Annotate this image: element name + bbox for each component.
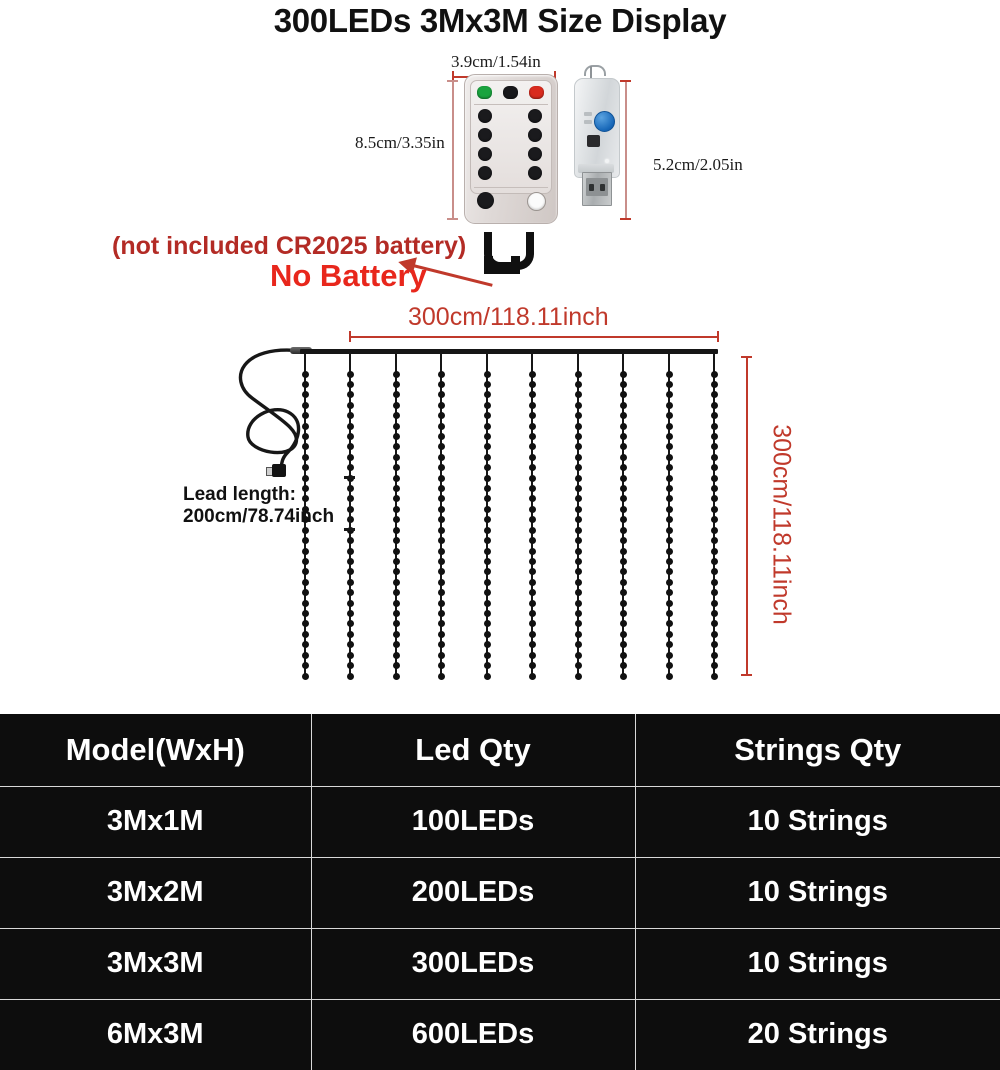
led-bulb xyxy=(666,641,673,648)
led-bulb xyxy=(711,600,718,607)
spec-table: Model(WxH) Led Qty Strings Qty 3Mx1M100L… xyxy=(0,714,1000,1070)
led-bulb xyxy=(711,631,718,638)
led-bulb xyxy=(620,423,627,430)
led-bulb xyxy=(347,443,354,450)
spec-table-row: 3Mx1M100LEDs10 Strings xyxy=(0,786,1000,857)
led-bulb xyxy=(575,579,582,586)
led-bulb xyxy=(438,506,445,513)
led-bulb xyxy=(302,475,309,482)
led-bulb xyxy=(529,454,536,461)
led-bulb xyxy=(575,381,582,388)
led-bulb xyxy=(484,516,491,523)
led-bulb xyxy=(484,454,491,461)
spec-cell-led-qty: 300LEDs xyxy=(311,928,635,999)
led-bulb xyxy=(393,652,400,659)
led-bulb xyxy=(711,589,718,596)
led-bulb xyxy=(393,673,400,680)
led-bulb xyxy=(393,548,400,555)
led-bulb xyxy=(529,495,536,502)
spec-cell-strings: 10 Strings xyxy=(635,928,1000,999)
led-bulb xyxy=(302,600,309,607)
led-bulb xyxy=(484,579,491,586)
led-bulb xyxy=(302,568,309,575)
led-bulb xyxy=(666,454,673,461)
led-bulb xyxy=(575,527,582,534)
led-bulb xyxy=(711,516,718,523)
led-bulb xyxy=(484,537,491,544)
led-bulb xyxy=(347,381,354,388)
led-bulb xyxy=(529,662,536,669)
led-bulb xyxy=(666,495,673,502)
led-bulb xyxy=(438,423,445,430)
led-bulb xyxy=(620,391,627,398)
lead-length-cap-top xyxy=(344,476,355,479)
led-bulb xyxy=(529,402,536,409)
led-bulb xyxy=(620,381,627,388)
led-bulb xyxy=(302,589,309,596)
led-bulb xyxy=(529,548,536,555)
led-bulb xyxy=(347,548,354,555)
led-bulb xyxy=(666,391,673,398)
led-bulb xyxy=(575,568,582,575)
led-bulb xyxy=(393,464,400,471)
led-bulb xyxy=(484,620,491,627)
led-bulb xyxy=(438,600,445,607)
led-bulb xyxy=(620,485,627,492)
led-bulb xyxy=(666,485,673,492)
led-bulb xyxy=(347,620,354,627)
led-string xyxy=(531,352,533,676)
led-bulb xyxy=(438,558,445,565)
led-bulb xyxy=(438,579,445,586)
led-bulb xyxy=(393,537,400,544)
led-bulb xyxy=(529,641,536,648)
led-bulb xyxy=(393,485,400,492)
led-bulb xyxy=(620,558,627,565)
led-bulb xyxy=(711,412,718,419)
led-bulb xyxy=(347,568,354,575)
led-bulb xyxy=(302,673,309,680)
led-bulb xyxy=(529,443,536,450)
led-bulb xyxy=(393,454,400,461)
led-bulb xyxy=(302,641,309,648)
led-bulb xyxy=(711,464,718,471)
led-string xyxy=(395,352,397,676)
led-bulb xyxy=(393,662,400,669)
led-bulb xyxy=(620,631,627,638)
lead-length-label: Lead length: 200cm/78.74inch xyxy=(183,484,334,529)
led-bulb xyxy=(711,652,718,659)
led-bulb xyxy=(347,631,354,638)
led-bulb xyxy=(438,433,445,440)
led-bulb xyxy=(575,610,582,617)
led-bulb xyxy=(711,423,718,430)
lead-length-line-2: 200cm/78.74inch xyxy=(183,506,334,527)
led-bulb xyxy=(666,371,673,378)
led-bulb xyxy=(620,537,627,544)
led-bulb xyxy=(575,485,582,492)
led-bulb xyxy=(393,579,400,586)
led-bulb xyxy=(393,527,400,534)
led-bulb xyxy=(484,423,491,430)
spec-cell-strings: 10 Strings xyxy=(635,786,1000,857)
led-bulb xyxy=(347,641,354,648)
led-bulb xyxy=(620,610,627,617)
led-bulb xyxy=(438,495,445,502)
led-bulb xyxy=(666,412,673,419)
led-bulb xyxy=(620,527,627,534)
led-string xyxy=(486,352,488,676)
led-bulb xyxy=(666,673,673,680)
led-bulb xyxy=(302,558,309,565)
led-bulb xyxy=(711,537,718,544)
led-bulb xyxy=(711,662,718,669)
led-bulb xyxy=(575,454,582,461)
led-bulb xyxy=(347,371,354,378)
led-bulb xyxy=(575,506,582,513)
led-bulb xyxy=(620,579,627,586)
led-bulb xyxy=(666,464,673,471)
led-bulb xyxy=(302,662,309,669)
led-bulb xyxy=(711,620,718,627)
led-bulb xyxy=(620,371,627,378)
led-bulb xyxy=(666,475,673,482)
led-bulb xyxy=(393,641,400,648)
led-bulb xyxy=(575,558,582,565)
led-bulb xyxy=(666,600,673,607)
led-bulb xyxy=(438,391,445,398)
spec-cell-led-qty: 100LEDs xyxy=(311,786,635,857)
led-bulb xyxy=(393,506,400,513)
led-bulb xyxy=(438,641,445,648)
lead-length-line-1: Lead length: xyxy=(183,484,296,505)
led-bulb xyxy=(575,673,582,680)
led-bulb xyxy=(575,589,582,596)
spec-cell-strings: 20 Strings xyxy=(635,999,1000,1070)
led-bulb xyxy=(711,527,718,534)
led-bulb xyxy=(575,600,582,607)
led-bulb xyxy=(484,433,491,440)
led-bulb xyxy=(575,516,582,523)
led-bulb xyxy=(575,412,582,419)
led-bulb xyxy=(302,631,309,638)
spec-cell-strings: 10 Strings xyxy=(635,857,1000,928)
led-bulb xyxy=(347,402,354,409)
led-bulb xyxy=(393,423,400,430)
led-bulb xyxy=(347,433,354,440)
led-bulb xyxy=(529,600,536,607)
curtain-top-wire xyxy=(300,349,718,354)
led-bulb xyxy=(711,506,718,513)
led-bulb xyxy=(302,652,309,659)
led-bulb xyxy=(575,371,582,378)
led-bulb xyxy=(529,412,536,419)
led-bulb xyxy=(620,454,627,461)
led-bulb xyxy=(711,443,718,450)
led-bulb xyxy=(393,558,400,565)
led-bulb xyxy=(620,516,627,523)
led-bulb xyxy=(484,443,491,450)
led-bulb xyxy=(620,433,627,440)
lead-usb-plug xyxy=(272,464,286,477)
led-bulb xyxy=(393,516,400,523)
led-bulb xyxy=(393,381,400,388)
led-bulb xyxy=(438,652,445,659)
led-bulb xyxy=(575,495,582,502)
led-bulb xyxy=(620,600,627,607)
led-bulb xyxy=(666,433,673,440)
led-bulb xyxy=(666,620,673,627)
led-bulb xyxy=(529,568,536,575)
led-bulb xyxy=(529,423,536,430)
led-bulb xyxy=(438,475,445,482)
led-bulb xyxy=(438,673,445,680)
led-bulb xyxy=(620,443,627,450)
led-bulb xyxy=(438,620,445,627)
led-bulb xyxy=(575,443,582,450)
led-bulb xyxy=(620,506,627,513)
led-bulb xyxy=(666,652,673,659)
led-bulb xyxy=(438,631,445,638)
led-bulb xyxy=(302,620,309,627)
led-bulb xyxy=(302,412,309,419)
led-bulb xyxy=(393,443,400,450)
led-bulb xyxy=(711,610,718,617)
spec-header-led-qty: Led Qty xyxy=(311,714,635,786)
led-bulb xyxy=(666,589,673,596)
led-bulb xyxy=(438,371,445,378)
spec-header-strings: Strings Qty xyxy=(635,714,1000,786)
led-bulb xyxy=(575,402,582,409)
led-bulb xyxy=(347,652,354,659)
led-bulb xyxy=(438,381,445,388)
led-bulb xyxy=(711,391,718,398)
led-bulb xyxy=(529,652,536,659)
led-bulb xyxy=(393,475,400,482)
led-bulb xyxy=(347,579,354,586)
led-bulb xyxy=(484,558,491,565)
led-bulb xyxy=(438,464,445,471)
led-bulb xyxy=(347,423,354,430)
led-bulb xyxy=(302,454,309,461)
led-bulb xyxy=(393,433,400,440)
led-bulb xyxy=(666,402,673,409)
led-bulb xyxy=(393,412,400,419)
led-bulb xyxy=(666,506,673,513)
led-bulb xyxy=(302,537,309,544)
led-bulb xyxy=(666,381,673,388)
led-bulb xyxy=(575,641,582,648)
led-bulb xyxy=(438,662,445,669)
led-bulb xyxy=(484,631,491,638)
led-bulb xyxy=(666,516,673,523)
led-bulb xyxy=(575,423,582,430)
led-bulb xyxy=(575,662,582,669)
led-bulb xyxy=(302,464,309,471)
spec-table-row: 3Mx2M200LEDs10 Strings xyxy=(0,857,1000,928)
led-bulb xyxy=(302,381,309,388)
led-bulb xyxy=(575,548,582,555)
led-bulb xyxy=(711,495,718,502)
led-bulb xyxy=(393,495,400,502)
led-bulb xyxy=(666,527,673,534)
led-bulb xyxy=(302,391,309,398)
led-bulb xyxy=(711,558,718,565)
spec-table-container: Model(WxH) Led Qty Strings Qty 3Mx1M100L… xyxy=(0,714,1000,1000)
led-bulb xyxy=(484,568,491,575)
led-bulb xyxy=(620,589,627,596)
led-bulb xyxy=(302,371,309,378)
spec-table-body: 3Mx1M100LEDs10 Strings3Mx2M200LEDs10 Str… xyxy=(0,786,1000,1070)
led-string xyxy=(440,352,442,676)
led-bulb xyxy=(484,652,491,659)
led-bulb xyxy=(302,433,309,440)
led-bulb xyxy=(711,402,718,409)
led-bulb xyxy=(529,673,536,680)
led-bulb xyxy=(529,537,536,544)
led-bulb xyxy=(393,371,400,378)
led-string xyxy=(622,352,624,676)
led-bulb xyxy=(620,652,627,659)
led-string xyxy=(577,352,579,676)
spec-header-model: Model(WxH) xyxy=(0,714,311,786)
led-bulb xyxy=(575,433,582,440)
led-bulb xyxy=(393,610,400,617)
led-bulb xyxy=(529,381,536,388)
lead-length-cap-bottom xyxy=(344,528,355,531)
led-bulb xyxy=(529,589,536,596)
led-bulb xyxy=(711,485,718,492)
spec-cell-model: 6Mx3M xyxy=(0,999,311,1070)
led-bulb xyxy=(529,527,536,534)
led-bulb xyxy=(529,475,536,482)
led-bulb xyxy=(529,391,536,398)
led-bulb xyxy=(575,464,582,471)
led-bulb xyxy=(620,412,627,419)
led-bulb xyxy=(711,454,718,461)
led-bulb xyxy=(575,631,582,638)
led-bulb xyxy=(484,371,491,378)
led-bulb xyxy=(484,589,491,596)
led-bulb xyxy=(438,443,445,450)
led-string xyxy=(668,352,670,676)
led-bulb xyxy=(620,548,627,555)
led-bulb xyxy=(484,412,491,419)
led-bulb xyxy=(620,620,627,627)
led-bulb xyxy=(529,464,536,471)
led-bulb xyxy=(484,391,491,398)
led-bulb xyxy=(438,516,445,523)
led-bulb xyxy=(666,662,673,669)
led-bulb xyxy=(620,568,627,575)
led-bulb xyxy=(620,673,627,680)
led-bulb xyxy=(666,579,673,586)
led-bulb xyxy=(666,610,673,617)
led-bulb xyxy=(620,662,627,669)
led-bulb xyxy=(484,527,491,534)
led-bulb xyxy=(393,391,400,398)
led-bulb xyxy=(302,548,309,555)
led-bulb xyxy=(484,495,491,502)
led-bulb xyxy=(438,610,445,617)
led-bulb xyxy=(575,391,582,398)
led-bulb xyxy=(666,558,673,565)
led-bulb xyxy=(347,412,354,419)
led-bulb xyxy=(484,548,491,555)
led-bulb xyxy=(529,371,536,378)
led-bulb xyxy=(393,402,400,409)
led-bulb xyxy=(347,464,354,471)
led-bulb xyxy=(575,475,582,482)
infographic-canvas: 300LEDs 3Mx3M Size Display 3.9cm/1.54in … xyxy=(0,0,1000,1000)
led-bulb xyxy=(484,610,491,617)
led-bulb xyxy=(666,537,673,544)
led-bulb xyxy=(347,589,354,596)
led-bulb xyxy=(438,568,445,575)
led-bulb xyxy=(347,454,354,461)
led-bulb xyxy=(484,673,491,680)
led-bulb xyxy=(347,673,354,680)
led-bulb xyxy=(620,402,627,409)
led-bulb xyxy=(438,402,445,409)
led-bulb xyxy=(347,558,354,565)
led-bulb xyxy=(484,402,491,409)
led-bulb xyxy=(438,548,445,555)
led-bulb xyxy=(711,568,718,575)
led-bulb xyxy=(529,506,536,513)
led-bulb xyxy=(393,589,400,596)
led-bulb xyxy=(666,443,673,450)
led-bulb xyxy=(347,610,354,617)
led-bulb xyxy=(302,443,309,450)
spec-cell-led-qty: 600LEDs xyxy=(311,999,635,1070)
spec-cell-model: 3Mx3M xyxy=(0,928,311,999)
led-bulb xyxy=(347,537,354,544)
spec-cell-model: 3Mx1M xyxy=(0,786,311,857)
led-bulb xyxy=(575,537,582,544)
led-bulb xyxy=(438,537,445,544)
led-bulb xyxy=(711,579,718,586)
led-bulb xyxy=(711,641,718,648)
spec-cell-model: 3Mx2M xyxy=(0,857,311,928)
led-bulb xyxy=(575,652,582,659)
led-bulb xyxy=(438,412,445,419)
led-bulb xyxy=(393,620,400,627)
led-bulb xyxy=(666,631,673,638)
led-bulb xyxy=(529,610,536,617)
led-bulb xyxy=(347,391,354,398)
led-bulb xyxy=(711,381,718,388)
led-bulb xyxy=(711,371,718,378)
led-bulb xyxy=(438,527,445,534)
led-bulb xyxy=(302,610,309,617)
lead-length-rule xyxy=(349,476,351,530)
led-bulb xyxy=(484,600,491,607)
led-bulb xyxy=(529,558,536,565)
led-bulb xyxy=(484,506,491,513)
led-string xyxy=(713,352,715,676)
led-bulb xyxy=(620,641,627,648)
led-bulb xyxy=(529,579,536,586)
led-bulb xyxy=(620,495,627,502)
led-bulb xyxy=(711,673,718,680)
led-bulb xyxy=(711,475,718,482)
led-bulb xyxy=(620,464,627,471)
led-bulb xyxy=(484,475,491,482)
led-bulb xyxy=(393,568,400,575)
led-bulb xyxy=(302,423,309,430)
spec-table-row: 3Mx3M300LEDs10 Strings xyxy=(0,928,1000,999)
